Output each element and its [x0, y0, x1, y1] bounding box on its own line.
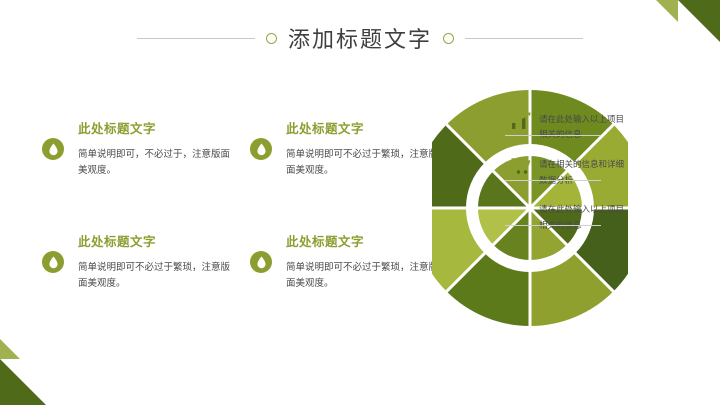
callout-divider	[505, 135, 601, 136]
content-blocks: 此处标题文字 简单说明即可，不必过于，注意版面美观度。 此处标题文字 简单说明即…	[42, 118, 442, 303]
page-title: 添加标题文字	[288, 22, 432, 54]
callout-text: 请在相关的信息和详细数据分析	[539, 158, 625, 189]
content-block[interactable]: 此处标题文字 简单说明即可，不必过于，注意版面美观度。	[42, 118, 238, 189]
title-circle-left-icon	[266, 33, 277, 44]
water-drop-icon	[250, 138, 272, 160]
water-drop-icon	[42, 138, 64, 160]
content-block[interactable]: 此处标题文字 简单说明即可不必过于繁琐，注意版面美观度。	[250, 231, 446, 302]
callout-item[interactable]: 请在相关的信息和详细数据分析	[505, 158, 710, 189]
slide-title-bar: 添加标题文字	[0, 22, 720, 54]
callout-item[interactable]: 请在此处输入以上项目相关的信息	[505, 113, 710, 144]
shopping-cart-icon	[509, 154, 533, 178]
corner-triangle-bottom-left-accent	[0, 339, 20, 359]
block-body: 简单说明即可不必过于繁琐，注意版面美观度。	[286, 260, 446, 293]
callout-divider	[505, 180, 601, 181]
title-rule-right	[465, 38, 583, 39]
block-body: 简单说明即可不必过于繁琐，注意版面美观度。	[286, 147, 446, 180]
callout-text: 请在此处输入以上项目相关的信息	[539, 203, 625, 234]
corner-triangle-top-right-accent	[656, 0, 678, 22]
block-title: 此处标题文字	[78, 118, 238, 137]
block-title: 此处标题文字	[286, 118, 446, 137]
callout-item[interactable]: 请在此处输入以上项目相关的信息	[505, 203, 710, 234]
content-block[interactable]: 此处标题文字 简单说明即可不必过于繁琐，注意版面美观度。	[250, 118, 446, 189]
callout-text: 请在此处输入以上项目相关的信息	[539, 113, 625, 144]
block-body: 简单说明即可，不必过于，注意版面美观度。	[78, 147, 238, 180]
growth-chart-icon	[509, 109, 533, 133]
callout-divider	[505, 225, 601, 226]
title-circle-right-icon	[443, 33, 454, 44]
water-drop-icon	[250, 251, 272, 273]
block-title: 此处标题文字	[78, 231, 238, 250]
callout-list: 请在此处输入以上项目相关的信息 请在相关的信息和详细数据分析 请在此处输入以上项…	[505, 104, 710, 249]
content-block[interactable]: 此处标题文字 简单说明即可不必过于繁琐，注意版面美观度。	[42, 231, 238, 302]
block-body: 简单说明即可不必过于繁琐，注意版面美观度。	[78, 260, 238, 293]
water-drop-icon	[42, 251, 64, 273]
block-title: 此处标题文字	[286, 231, 446, 250]
corner-triangle-bottom-left	[0, 359, 46, 405]
title-rule-left	[137, 38, 255, 39]
